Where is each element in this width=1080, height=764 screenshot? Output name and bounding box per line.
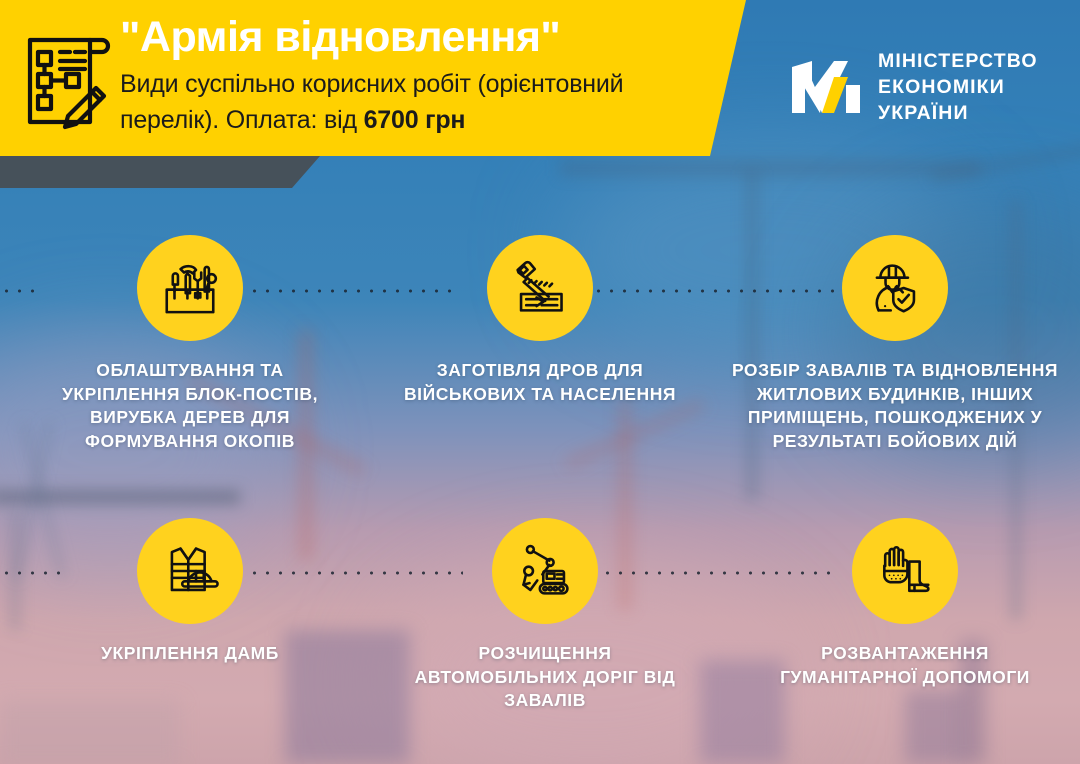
header-amount: 6700 грн	[364, 106, 466, 134]
ministry-logo-line3: УКРАЇНИ	[878, 102, 969, 124]
header-subtitle-line2: перелік). Оплата: від 6700 грн	[120, 102, 720, 138]
work-item-caption: РОЗЧИЩЕННЯ АВТОМОБІЛЬНИХ ДОРІГ ВІД ЗАВАЛ…	[395, 642, 695, 713]
header-accent-tab	[0, 156, 320, 188]
safety-vest-helmet-icon	[137, 518, 243, 624]
glove-boot-icon	[852, 518, 958, 624]
ministry-m-logo-icon	[790, 51, 862, 123]
work-item-humanitarian[interactable]: РОЗВАНТАЖЕННЯ ГУМАНІТАРНОЇ ДОПОМОГИ	[755, 518, 1055, 689]
handsaw-log-icon	[487, 235, 593, 341]
toolbox-icon	[137, 235, 243, 341]
header-banner: "Армія відновлення" Види суспільно корис…	[0, 0, 760, 156]
ministry-logo: МІНІСТЕРСТВО ЕКОНОМІКИ УКРАЇНИ	[790, 48, 1038, 126]
header-text-block: "Армія відновлення" Види суспільно корис…	[120, 8, 720, 138]
worker-shield-icon	[842, 235, 948, 341]
header-subtitle-prefix: перелік). Оплата: від	[120, 106, 364, 134]
work-item-firewood[interactable]: ЗАГОТІВЛЯ ДРОВ ДЛЯ ВІЙСЬКОВИХ ТА НАСЕЛЕН…	[395, 235, 685, 406]
document-pencil-icon	[22, 30, 114, 130]
page-title: "Армія відновлення"	[120, 8, 720, 66]
work-item-caption: РОЗВАНТАЖЕННЯ ГУМАНІТАРНОЇ ДОПОМОГИ	[755, 642, 1055, 689]
work-item-dams[interactable]: УКРІПЛЕННЯ ДАМБ	[35, 518, 345, 666]
ministry-logo-text: МІНІСТЕРСТВО ЕКОНОМІКИ УКРАЇНИ	[878, 48, 1038, 126]
work-item-caption: ОБЛАШТУВАННЯ ТА УКРІПЛЕННЯ БЛОК-ПОСТІВ, …	[35, 359, 345, 453]
work-item-tools[interactable]: ОБЛАШТУВАННЯ ТА УКРІПЛЕННЯ БЛОК-ПОСТІВ, …	[35, 235, 345, 453]
work-item-caption: ЗАГОТІВЛЯ ДРОВ ДЛЯ ВІЙСЬКОВИХ ТА НАСЕЛЕН…	[395, 359, 685, 406]
ministry-logo-line2: ЕКОНОМІКИ	[878, 76, 1005, 98]
infographic-canvas: "Армія відновлення" Види суспільно корис…	[0, 0, 1080, 764]
header-subtitle-line1: Види суспільно корисних робіт (орієнтовн…	[120, 66, 720, 102]
excavator-icon	[492, 518, 598, 624]
work-item-roads[interactable]: РОЗЧИЩЕННЯ АВТОМОБІЛЬНИХ ДОРІГ ВІД ЗАВАЛ…	[395, 518, 695, 713]
work-item-rubble[interactable]: РОЗБІР ЗАВАЛІВ ТА ВІДНОВЛЕННЯ ЖИТЛОВИХ Б…	[720, 235, 1070, 453]
ministry-logo-line1: МІНІСТЕРСТВО	[878, 50, 1038, 72]
work-item-caption: РОЗБІР ЗАВАЛІВ ТА ВІДНОВЛЕННЯ ЖИТЛОВИХ Б…	[720, 359, 1070, 453]
work-item-caption: УКРІПЛЕННЯ ДАМБ	[35, 642, 345, 666]
